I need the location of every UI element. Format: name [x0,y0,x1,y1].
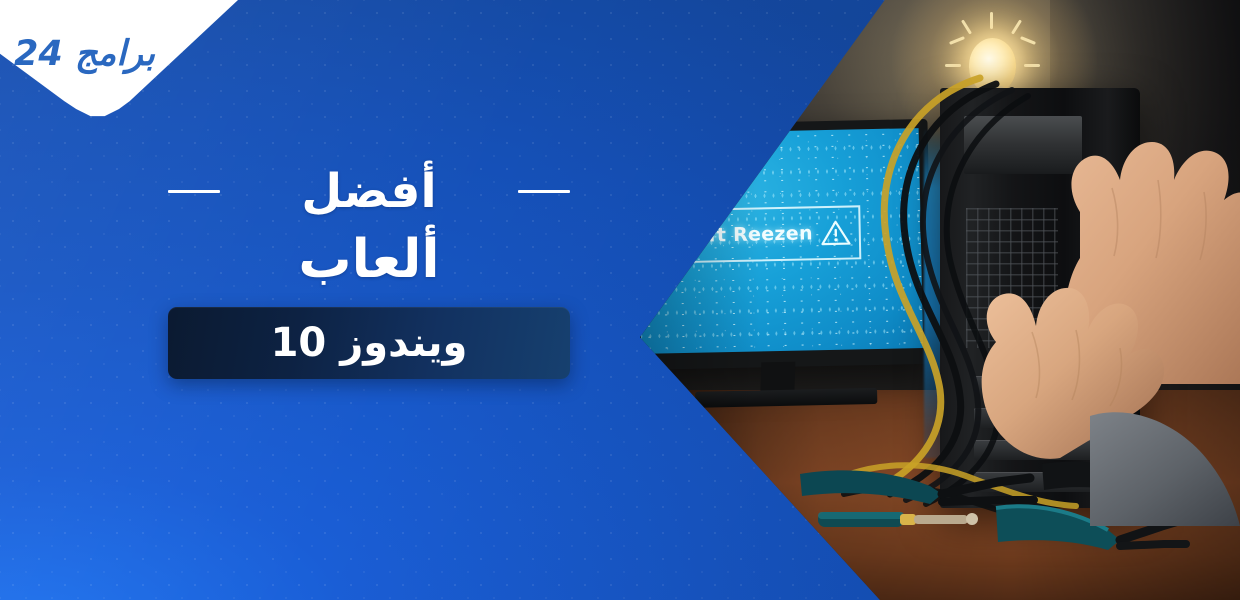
divider-dash-right [518,190,570,193]
subtitle-pill-text: ويندوز 10 [271,323,468,363]
subtitle-pill[interactable]: ويندوز 10 [168,307,570,379]
headline-line-1: أفضل [168,160,570,222]
headline-block: أفضل ألعاب ويندوز 10 [168,160,570,379]
promo-banner: Soft Reezen [0,0,1240,600]
divider-dash-left [168,190,220,193]
hand-lower [940,226,1240,526]
headline-word-games: ألعاب [168,230,570,291]
logo-text: برامج 24 [14,34,155,74]
headline-word-best: أفضل [220,168,518,215]
